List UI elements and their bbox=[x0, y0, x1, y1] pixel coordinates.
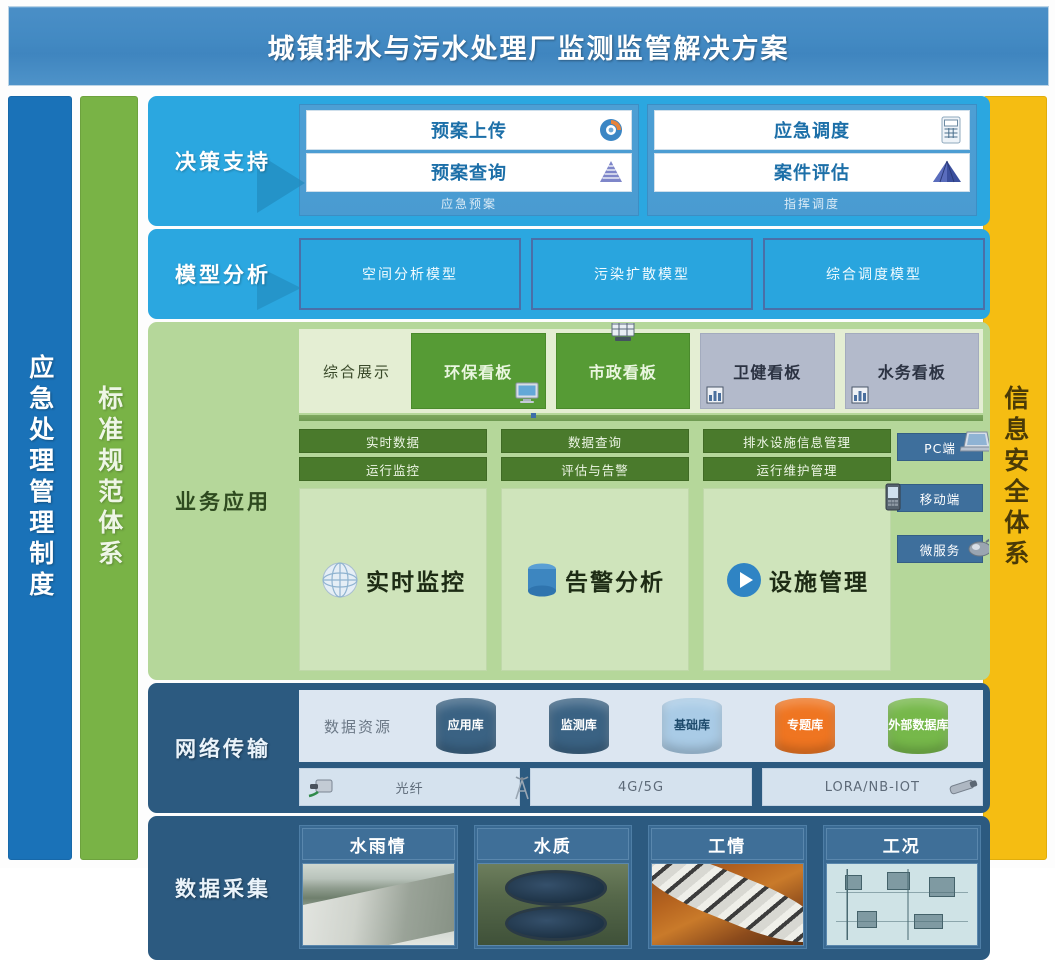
business-card-label: 设施管理 bbox=[769, 563, 869, 597]
laptop-icon bbox=[960, 430, 990, 454]
business-card-realtime-monitoring[interactable]: 实时监控 bbox=[299, 488, 487, 671]
chart-icon bbox=[706, 386, 724, 404]
data-resources-panel: 数据资源 应用库 监测库 基础库 专题库 外部数据库 bbox=[299, 690, 983, 762]
page-title-bar: 城镇排水与污水处理厂监测监管解决方案 bbox=[8, 6, 1049, 86]
side-column-label: 应急处理管理制度 bbox=[25, 354, 55, 602]
monitor-icon bbox=[515, 382, 539, 404]
card-plan-query[interactable]: 预案查询 bbox=[306, 153, 632, 193]
antenna-tower-icon bbox=[511, 774, 533, 800]
mobile-phone-icon bbox=[884, 483, 902, 511]
database-thematic[interactable]: 专题库 bbox=[775, 698, 835, 754]
scada-element bbox=[929, 877, 955, 897]
decision-group-command-dispatch: 应急调度 bbox=[647, 104, 977, 216]
layer-business-application: 业务应用 综合展示 环保看板 bbox=[148, 322, 990, 680]
dashboard-tile-water[interactable]: 水务看板 bbox=[845, 333, 980, 409]
pill-data-query[interactable]: 数据查询 bbox=[501, 429, 689, 453]
treatment-tanks-photo bbox=[477, 863, 630, 946]
card-label: 预案查询 bbox=[431, 159, 507, 185]
layer-label-data-acquisition: 数据采集 bbox=[149, 817, 297, 959]
window-icon bbox=[610, 322, 636, 342]
recycle-arrows-icon bbox=[598, 117, 624, 143]
decision-group-emergency-plan: 预案上传 预案查询 bbox=[299, 104, 639, 216]
comprehensive-display-label: 综合展示 bbox=[303, 361, 411, 382]
tile-label: 水务看板 bbox=[878, 359, 946, 383]
acquisition-tile-engineering[interactable]: 工情 bbox=[648, 825, 807, 949]
tile-label: 水雨情 bbox=[302, 828, 455, 860]
pill-assessment-alarm[interactable]: 评估与告警 bbox=[501, 457, 689, 481]
pill-operation-monitoring[interactable]: 运行监控 bbox=[299, 457, 487, 481]
terminal-label: 移动端 bbox=[920, 489, 961, 508]
pyramid-icon bbox=[598, 160, 624, 184]
database-external[interactable]: 外部数据库 bbox=[888, 698, 948, 754]
terminal-microservice[interactable]: 微服务 bbox=[897, 535, 983, 563]
page-title: 城镇排水与污水处理厂监测监管解决方案 bbox=[268, 27, 790, 66]
transmission-links: 光纤 4G/5G bbox=[299, 768, 983, 806]
scada-element bbox=[857, 911, 877, 928]
service-icon bbox=[966, 536, 990, 560]
link-label: 光纤 bbox=[396, 778, 424, 797]
dashboard-tile-municipal[interactable]: 市政看板 bbox=[556, 333, 691, 409]
card-label: 预案上传 bbox=[431, 117, 507, 143]
terminal-list: PC端 移动端 bbox=[897, 433, 983, 563]
side-column-label: 信息安全体系 bbox=[1000, 385, 1030, 571]
acquisition-tile-operating-condition[interactable]: 工况 bbox=[823, 825, 982, 949]
play-circle-icon bbox=[725, 561, 763, 599]
tile-label: 市政看板 bbox=[589, 359, 657, 383]
sensor-icon bbox=[946, 776, 980, 798]
layer-body-network-transmission: 数据资源 应用库 监测库 基础库 专题库 外部数据库 bbox=[297, 684, 989, 812]
pill-realtime-data[interactable]: 实时数据 bbox=[299, 429, 487, 453]
database-monitoring[interactable]: 监测库 bbox=[549, 698, 609, 754]
business-inner: 综合展示 环保看板 bbox=[299, 329, 983, 671]
tile-label: 环保看板 bbox=[444, 359, 512, 383]
layer-label-business-application: 业务应用 bbox=[149, 323, 297, 679]
dashboard-tile-health[interactable]: 卫健看板 bbox=[700, 333, 835, 409]
card-case-assessment[interactable]: 案件评估 bbox=[654, 153, 970, 193]
side-column-emergency-management: 应急处理管理制度 bbox=[8, 96, 72, 860]
terminal-label: PC端 bbox=[924, 438, 956, 457]
business-groups: 实时数据 运行监控 bbox=[299, 429, 891, 671]
business-card-label: 告警分析 bbox=[565, 563, 665, 597]
tile-label: 工情 bbox=[651, 828, 804, 860]
card-label: 案件评估 bbox=[774, 159, 850, 185]
side-column-label: 标准规范体系 bbox=[94, 385, 124, 571]
layer-network-transmission: 网络传输 数据资源 应用库 监测库 基础库 专题库 外部数据库 bbox=[148, 683, 990, 813]
layer-stack: 决策支持 预案上传 bbox=[148, 96, 988, 858]
business-card-alarm-analysis[interactable]: 告警分析 bbox=[501, 488, 689, 671]
database-basic[interactable]: 基础库 bbox=[662, 698, 722, 754]
link-cellular[interactable]: 4G/5G bbox=[530, 768, 751, 806]
model-box-row: 空间分析模型 污染扩散模型 综合调度模型 bbox=[299, 238, 985, 310]
card-label: 应急调度 bbox=[774, 117, 850, 143]
scada-element bbox=[845, 875, 862, 890]
terminal-pc[interactable]: PC端 bbox=[897, 433, 983, 461]
data-resources-label: 数据资源 bbox=[307, 716, 409, 737]
tile-label: 卫健看板 bbox=[733, 359, 801, 383]
terminal-mobile[interactable]: 移动端 bbox=[897, 484, 983, 512]
link-label: 4G/5G bbox=[618, 780, 664, 795]
tile-label: 工况 bbox=[826, 828, 979, 860]
model-box-dispatch[interactable]: 综合调度模型 bbox=[763, 238, 985, 310]
layer-decision-support: 决策支持 预案上传 bbox=[148, 96, 990, 226]
layer-body-business-application: 综合展示 环保看板 bbox=[297, 323, 989, 679]
river-channel-photo bbox=[302, 863, 455, 946]
layer-label-model-analysis: 模型分析 bbox=[149, 230, 297, 318]
business-card-label: 实时监控 bbox=[366, 563, 466, 597]
architecture-diagram: 城镇排水与污水处理厂监测监管解决方案 应急处理管理制度 标准规范体系 信息安全体… bbox=[0, 0, 1055, 868]
decision-group-sublabel: 指挥调度 bbox=[654, 195, 970, 215]
side-column-information-security: 信息安全体系 bbox=[983, 96, 1047, 860]
comprehensive-display-row: 综合展示 环保看板 bbox=[299, 329, 983, 413]
link-label: LORA/NB-IOT bbox=[825, 780, 920, 795]
display-underline bbox=[299, 415, 983, 421]
scada-element bbox=[914, 914, 943, 929]
layer-label-network-transmission: 网络传输 bbox=[149, 684, 297, 812]
dashboard-tile-environment[interactable]: 环保看板 bbox=[411, 333, 546, 409]
database-application[interactable]: 应用库 bbox=[436, 698, 496, 754]
pill-operation-maintenance[interactable]: 运行维护管理 bbox=[703, 457, 891, 481]
layer-body-decision-support: 预案上传 预案查询 bbox=[297, 97, 989, 225]
pipeline-trench-photo bbox=[651, 863, 804, 946]
display-marker-dot bbox=[531, 413, 536, 418]
layer-body-data-acquisition: 水雨情 水质 工情 工况 bbox=[297, 817, 989, 959]
side-column-standards: 标准规范体系 bbox=[80, 96, 138, 860]
business-group-realtime: 实时数据 运行监控 bbox=[299, 429, 487, 671]
acquisition-tile-water-quality[interactable]: 水质 bbox=[474, 825, 633, 949]
pill-drainage-facility-info[interactable]: 排水设施信息管理 bbox=[703, 429, 891, 453]
card-emergency-dispatch[interactable]: 应急调度 bbox=[654, 110, 970, 150]
business-group-alarm: 数据查询 评估与告警 告警分析 bbox=[501, 429, 689, 671]
business-card-facility-management[interactable]: 设施管理 bbox=[703, 488, 891, 671]
blue-pyramid-icon bbox=[932, 160, 962, 184]
tile-label: 水质 bbox=[477, 828, 630, 860]
layer-body-model-analysis: 空间分析模型 污染扩散模型 综合调度模型 bbox=[297, 230, 989, 318]
calculator-icon bbox=[940, 116, 962, 144]
link-fiber[interactable]: 光纤 bbox=[299, 768, 520, 806]
dashboard-tiles: 环保看板 bbox=[411, 333, 983, 409]
layer-model-analysis: 模型分析 空间分析模型 污染扩散模型 综合调度模型 bbox=[148, 229, 990, 319]
scada-element bbox=[887, 872, 910, 890]
link-lora-nbiot[interactable]: LORA/NB-IOT bbox=[762, 768, 983, 806]
business-group-facility: 排水设施信息管理 运行维护管理 设施管理 bbox=[703, 429, 891, 671]
chart-icon bbox=[851, 386, 869, 404]
scada-schematic-photo bbox=[826, 863, 979, 946]
model-box-spatial[interactable]: 空间分析模型 bbox=[299, 238, 521, 310]
layer-label-decision-support: 决策支持 bbox=[149, 97, 297, 225]
model-box-pollution[interactable]: 污染扩散模型 bbox=[531, 238, 753, 310]
acquisition-tile-hydrology[interactable]: 水雨情 bbox=[299, 825, 458, 949]
terminal-label: 微服务 bbox=[920, 540, 961, 559]
layer-data-acquisition: 数据采集 水雨情 水质 工情 工 bbox=[148, 816, 990, 960]
acquisition-tiles: 水雨情 水质 工情 工况 bbox=[299, 825, 981, 949]
fiber-cable-icon bbox=[308, 776, 338, 798]
database-cylinders: 应用库 监测库 基础库 专题库 外部数据库 bbox=[409, 698, 975, 754]
decision-group-sublabel: 应急预案 bbox=[306, 195, 632, 215]
globe-icon bbox=[320, 560, 360, 600]
network-inner: 数据资源 应用库 监测库 基础库 专题库 外部数据库 bbox=[299, 690, 983, 806]
card-plan-upload[interactable]: 预案上传 bbox=[306, 110, 632, 150]
database-icon bbox=[525, 561, 559, 599]
